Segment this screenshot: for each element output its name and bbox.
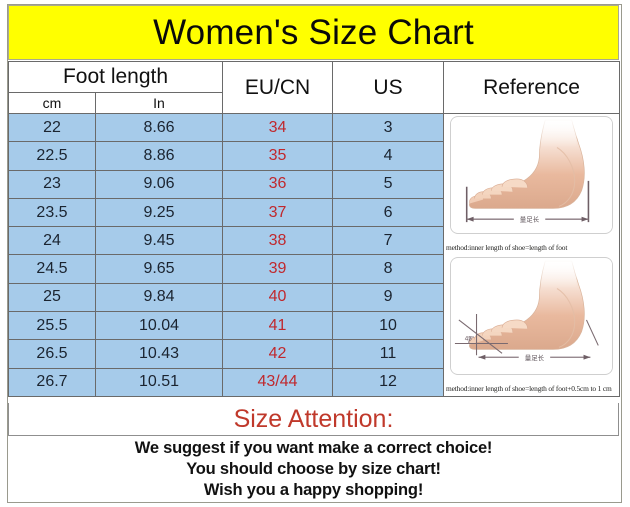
cell-in: 9.84 bbox=[96, 283, 223, 311]
table-header: Foot length EU/CN US Reference cm In bbox=[9, 62, 620, 114]
cell-in: 10.51 bbox=[96, 368, 223, 396]
cell-us: 8 bbox=[333, 255, 444, 283]
cell-cm: 22.5 bbox=[9, 142, 96, 170]
foot-diagram-one-card: 量足长 bbox=[450, 116, 613, 234]
cell-in: 8.66 bbox=[96, 114, 223, 142]
size-chart-table: Foot length EU/CN US Reference cm In 22 … bbox=[8, 61, 620, 397]
header-cm: cm bbox=[9, 93, 96, 114]
header-us: US bbox=[333, 62, 444, 114]
cell-cm: 25 bbox=[9, 283, 96, 311]
cell-cm: 22 bbox=[9, 114, 96, 142]
cell-us: 6 bbox=[333, 198, 444, 226]
measure-label-two: 量足长 bbox=[525, 353, 545, 362]
cell-in: 9.06 bbox=[96, 170, 223, 198]
size-chart-page: Women's Size Chart Foot length EU/CN US … bbox=[0, 0, 630, 507]
foot-side-view-icon: 量足长 bbox=[451, 117, 612, 233]
page-title: Women's Size Chart bbox=[153, 15, 474, 50]
cell-in: 9.45 bbox=[96, 227, 223, 255]
foot-diagram-two-card: 45° 量足长 bbox=[450, 257, 613, 375]
cell-eu: 37 bbox=[223, 198, 333, 226]
cell-cm: 24 bbox=[9, 227, 96, 255]
foot-side-view-angled-icon: 45° 量足长 bbox=[451, 258, 612, 374]
cell-us: 10 bbox=[333, 312, 444, 340]
table-row: 22 8.66 34 3 bbox=[9, 114, 620, 142]
cell-eu: 34 bbox=[223, 114, 333, 142]
note-line-3: Wish you a happy shopping! bbox=[204, 480, 423, 501]
header-eu-cn: EU/CN bbox=[223, 62, 333, 114]
note-line-2: You should choose by size chart! bbox=[186, 459, 441, 480]
cell-cm: 26.7 bbox=[9, 368, 96, 396]
size-attention-heading: Size Attention: bbox=[234, 407, 394, 432]
attention-notes: We suggest if you want make a correct ch… bbox=[8, 436, 619, 502]
header-reference: Reference bbox=[444, 62, 620, 114]
cell-us: 12 bbox=[333, 368, 444, 396]
cell-us: 7 bbox=[333, 227, 444, 255]
reference-block-two: 45° 量足长 bbox=[444, 255, 619, 396]
cell-us: 5 bbox=[333, 170, 444, 198]
size-attention-band: Size Attention: bbox=[8, 403, 619, 436]
title-banner: Women's Size Chart bbox=[8, 5, 619, 60]
cell-eu: 35 bbox=[223, 142, 333, 170]
cell-cm: 24.5 bbox=[9, 255, 96, 283]
header-in: In bbox=[96, 93, 223, 114]
cell-us: 3 bbox=[333, 114, 444, 142]
cell-eu: 36 bbox=[223, 170, 333, 198]
header-foot-length: Foot length bbox=[9, 62, 223, 93]
cell-in: 10.04 bbox=[96, 312, 223, 340]
cell-us: 4 bbox=[333, 142, 444, 170]
note-line-1: We suggest if you want make a correct ch… bbox=[135, 438, 492, 459]
cell-eu: 41 bbox=[223, 312, 333, 340]
table-body: 22 8.66 34 3 bbox=[9, 114, 620, 397]
cell-eu: 42 bbox=[223, 340, 333, 368]
reference-caption-two: method:inner length of shoe=length of fo… bbox=[446, 384, 618, 393]
cell-cm: 23.5 bbox=[9, 198, 96, 226]
cell-us: 11 bbox=[333, 340, 444, 368]
cell-cm: 25.5 bbox=[9, 312, 96, 340]
reference-caption-one: method:inner length of shoe=length of fo… bbox=[446, 243, 618, 252]
cell-eu: 43/44 bbox=[223, 368, 333, 396]
table-header-row-main: Foot length EU/CN US Reference bbox=[9, 62, 620, 93]
measure-label-one: 量足长 bbox=[520, 215, 540, 224]
cell-eu: 38 bbox=[223, 227, 333, 255]
angle-label: 45° bbox=[465, 335, 475, 343]
cell-cm: 23 bbox=[9, 170, 96, 198]
cell-in: 8.86 bbox=[96, 142, 223, 170]
cell-in: 10.43 bbox=[96, 340, 223, 368]
reference-cell: 量足长 method:inner length of shoe=length o… bbox=[444, 114, 620, 397]
cell-in: 9.25 bbox=[96, 198, 223, 226]
cell-us: 9 bbox=[333, 283, 444, 311]
reference-block-one: 量足长 method:inner length of shoe=length o… bbox=[444, 114, 619, 255]
cell-eu: 40 bbox=[223, 283, 333, 311]
cell-in: 9.65 bbox=[96, 255, 223, 283]
cell-cm: 26.5 bbox=[9, 340, 96, 368]
cell-eu: 39 bbox=[223, 255, 333, 283]
